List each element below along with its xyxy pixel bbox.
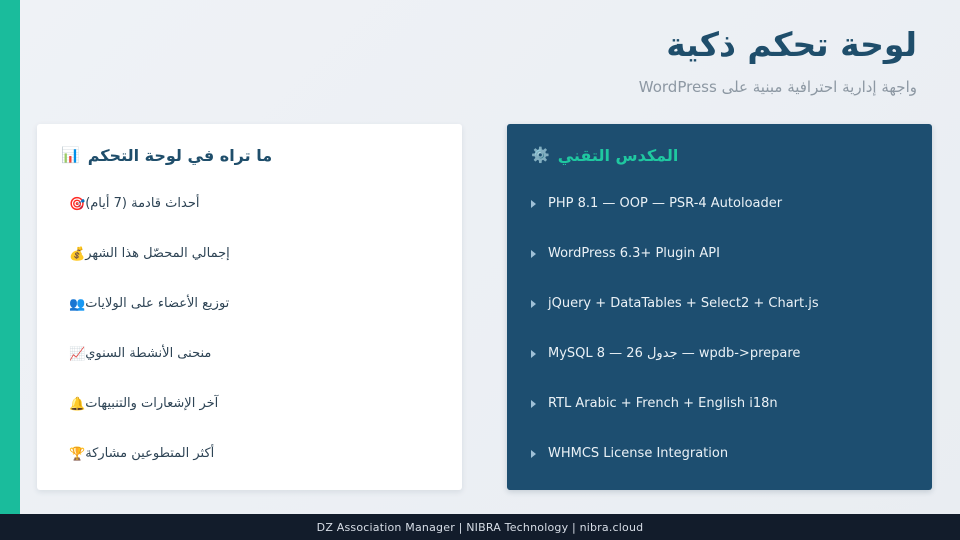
- slide-root: لوحة تحكم ذكية واجهة إدارية احترافية مبن…: [0, 0, 960, 540]
- list-item-label: PHP 8.1 — OOP — PSR-4 Autoloader: [548, 195, 782, 213]
- list-item-label: أكثر المتطوعين مشاركة: [85, 445, 214, 463]
- triangle-bullet-icon: [531, 300, 536, 308]
- page-title: لوحة تحكم ذكية: [37, 24, 917, 67]
- slide-header: لوحة تحكم ذكية واجهة إدارية احترافية مبن…: [37, 24, 917, 98]
- list-item[interactable]: 🏆 أكثر المتطوعين مشاركة: [61, 429, 438, 479]
- list-item[interactable]: PHP 8.1 — OOP — PSR-4 Autoloader: [531, 179, 908, 229]
- list-item-label: MySQL 8 — 26 جدول — wpdb->prepare: [548, 345, 800, 363]
- dashboard-features-card: 📊 ما تراه في لوحة التحكم 🎯 أحداث قادمة (…: [37, 124, 462, 490]
- footer-bar: DZ Association Manager | NIBRA Technolog…: [0, 514, 960, 540]
- tech-stack-heading-label: المكدس التقني: [558, 146, 679, 165]
- list-item[interactable]: 🔔 آخر الإشعارات والتنبيهات: [61, 379, 438, 429]
- triangle-bullet-icon: [531, 200, 536, 208]
- trophy-icon: 🏆: [69, 448, 85, 461]
- list-item[interactable]: WordPress 6.3+ Plugin API: [531, 229, 908, 279]
- target-icon: 🎯: [69, 198, 85, 211]
- chart-increasing-icon: 📈: [69, 348, 85, 361]
- list-item[interactable]: WHMCS License Integration: [531, 429, 908, 479]
- triangle-bullet-icon: [531, 250, 536, 258]
- dashboard-features-heading: 📊 ما تراه في لوحة التحكم: [61, 146, 438, 165]
- people-icon: 👥: [69, 298, 85, 311]
- list-item-label: منحنى الأنشطة السنوي: [85, 345, 211, 363]
- triangle-bullet-icon: [531, 400, 536, 408]
- cards-container: 📊 ما تراه في لوحة التحكم 🎯 أحداث قادمة (…: [37, 124, 932, 490]
- list-item[interactable]: 📈 منحنى الأنشطة السنوي: [61, 329, 438, 379]
- list-item[interactable]: 💰 إجمالي المحصّل هذا الشهر: [61, 229, 438, 279]
- money-bag-icon: 💰: [69, 248, 85, 261]
- dashboard-features-heading-label: ما تراه في لوحة التحكم: [88, 146, 272, 165]
- list-item[interactable]: jQuery + DataTables + Select2 + Chart.js: [531, 279, 908, 329]
- list-item-label: WordPress 6.3+ Plugin API: [548, 245, 720, 263]
- gear-icon: ⚙️: [531, 148, 550, 163]
- list-item-label: jQuery + DataTables + Select2 + Chart.js: [548, 295, 819, 313]
- list-item-label: RTL Arabic + French + English i18n: [548, 395, 778, 413]
- bell-icon: 🔔: [69, 398, 85, 411]
- tech-stack-heading: ⚙️ المكدس التقني: [531, 146, 908, 165]
- list-item[interactable]: 🎯 أحداث قادمة (7 أيام): [61, 179, 438, 229]
- page-subtitle: واجهة إدارية احترافية مبنية على WordPres…: [37, 77, 917, 98]
- list-item-label: إجمالي المحصّل هذا الشهر: [85, 245, 230, 263]
- triangle-bullet-icon: [531, 350, 536, 358]
- list-item-label: توزيع الأعضاء على الولايات: [85, 295, 229, 313]
- footer-credit: DZ Association Manager | NIBRA Technolog…: [317, 521, 644, 534]
- left-accent-bar: [0, 0, 20, 514]
- tech-stack-list: PHP 8.1 — OOP — PSR-4 Autoloader WordPre…: [531, 179, 908, 479]
- list-item-label: أحداث قادمة (7 أيام): [85, 195, 199, 213]
- bar-chart-icon: 📊: [61, 148, 80, 163]
- triangle-bullet-icon: [531, 450, 536, 458]
- list-item-label: WHMCS License Integration: [548, 445, 728, 463]
- list-item-label: آخر الإشعارات والتنبيهات: [85, 395, 218, 413]
- tech-stack-card: ⚙️ المكدس التقني PHP 8.1 — OOP — PSR-4 A…: [507, 124, 932, 490]
- list-item[interactable]: 👥 توزيع الأعضاء على الولايات: [61, 279, 438, 329]
- list-item[interactable]: RTL Arabic + French + English i18n: [531, 379, 908, 429]
- dashboard-features-list: 🎯 أحداث قادمة (7 أيام) 💰 إجمالي المحصّل …: [61, 179, 438, 479]
- list-item[interactable]: MySQL 8 — 26 جدول — wpdb->prepare: [531, 329, 908, 379]
